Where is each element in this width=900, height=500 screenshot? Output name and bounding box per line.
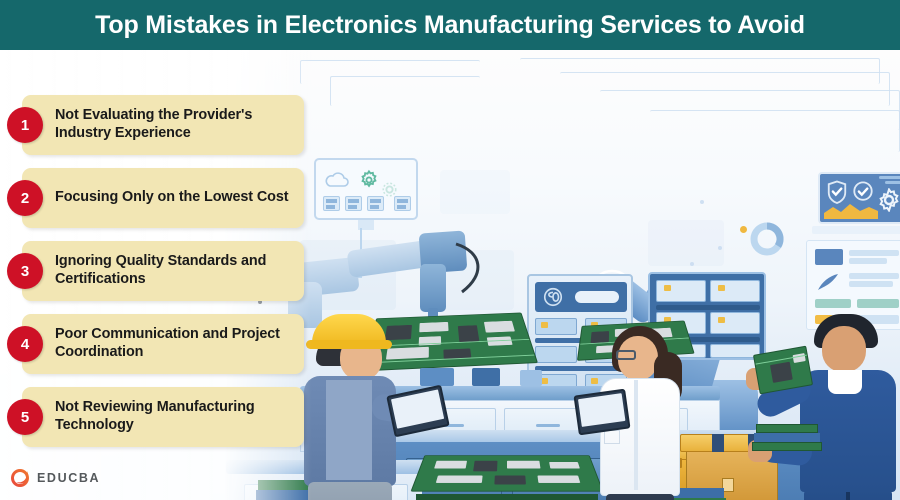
list-item[interactable]: Poor Communication and Project Coordinat… bbox=[0, 314, 320, 378]
status-light bbox=[718, 317, 725, 323]
list-item-number-badge: 2 bbox=[7, 180, 43, 216]
header-bar: Top Mistakes in Electronics Manufacturin… bbox=[0, 0, 900, 50]
decorative-dot bbox=[740, 226, 747, 233]
leg-seam bbox=[846, 492, 850, 500]
robot-arm-wrist bbox=[420, 264, 446, 312]
technician-head bbox=[822, 326, 866, 372]
list-item-label: Not Reviewing Manufacturing Technology bbox=[55, 399, 294, 434]
safety-glasses-icon bbox=[616, 350, 636, 360]
lab-coat-pocket bbox=[604, 430, 620, 444]
pcb-chip bbox=[484, 321, 515, 333]
status-light bbox=[541, 378, 548, 384]
monitor-tile bbox=[367, 196, 384, 211]
panel-chip bbox=[815, 249, 843, 265]
status-light bbox=[718, 285, 725, 291]
list-item-label: Focusing Only on the Lowest Cost bbox=[55, 189, 288, 207]
pcb-chip bbox=[494, 476, 526, 485]
infographic-page: Top Mistakes in Electronics Manufacturin… bbox=[0, 0, 900, 500]
list-item-label: Ignoring Quality Standards and Certifica… bbox=[55, 253, 294, 288]
decorative-dot bbox=[700, 200, 704, 204]
gear-icon bbox=[358, 169, 380, 191]
list-item-number-badge: 1 bbox=[7, 107, 43, 143]
engineer-tablet bbox=[573, 389, 630, 436]
panel-line bbox=[815, 299, 851, 308]
worker-legs bbox=[308, 482, 392, 500]
pcb-chip bbox=[473, 461, 497, 472]
held-pcb-stack bbox=[752, 442, 822, 451]
cabinet-indicator bbox=[575, 291, 619, 303]
educba-brand-text: EDUCBA bbox=[37, 471, 100, 485]
pcb-stack bbox=[410, 455, 603, 491]
area-chart-graphic bbox=[824, 202, 878, 219]
pcb-chip bbox=[419, 322, 448, 332]
badge-check-icon bbox=[852, 180, 874, 204]
pcb-stack-edge bbox=[416, 494, 598, 500]
technician-holding-board bbox=[800, 308, 900, 500]
dashboard-line bbox=[879, 176, 900, 179]
panel-line bbox=[849, 281, 893, 287]
panel-line bbox=[849, 258, 887, 264]
monitor-tile bbox=[394, 196, 411, 211]
cabinet-cell bbox=[710, 280, 760, 302]
pcb-chip bbox=[537, 476, 580, 483]
lab-coat-seam bbox=[634, 380, 638, 490]
rocket-icon bbox=[815, 271, 841, 293]
list-item[interactable]: Ignoring Quality Standards and Certifica… bbox=[0, 241, 320, 305]
cloud-icon bbox=[324, 172, 350, 190]
panel-line bbox=[857, 299, 899, 308]
cabinet-header bbox=[535, 282, 627, 312]
gear-icon bbox=[382, 182, 397, 197]
pcb-chip bbox=[549, 462, 580, 469]
educba-logo[interactable]: EDUCBA bbox=[10, 468, 100, 488]
carton-strap bbox=[712, 434, 724, 452]
shield-check-icon bbox=[826, 180, 848, 204]
pcb-chip bbox=[436, 476, 483, 483]
list-item-label: Not Evaluating the Provider's Industry E… bbox=[55, 107, 294, 142]
monitor-tile bbox=[323, 196, 340, 211]
pcb-chip bbox=[434, 461, 467, 469]
wall-monitor bbox=[314, 158, 418, 220]
list-item-number-badge: 5 bbox=[7, 399, 43, 435]
background-shelf bbox=[440, 170, 510, 214]
panel-line bbox=[849, 273, 899, 279]
panel-line bbox=[849, 250, 899, 256]
held-pcb-stack bbox=[756, 424, 818, 433]
technician-undershirt bbox=[828, 370, 862, 394]
drawer-handle bbox=[536, 424, 560, 427]
gear-icon bbox=[877, 188, 900, 212]
list-item-card[interactable]: Not Evaluating the Provider's Industry E… bbox=[22, 95, 304, 155]
background-shelf bbox=[648, 220, 724, 266]
held-pcb-stack bbox=[754, 433, 820, 442]
circuit-trace-icon bbox=[330, 76, 480, 106]
cabinet-cell bbox=[535, 346, 577, 363]
pcb-chip bbox=[458, 325, 480, 342]
list-item-card[interactable]: Not Reviewing Manufacturing Technology bbox=[22, 387, 304, 447]
cabinet-cell bbox=[656, 280, 706, 302]
mistakes-list: Not Evaluating the Provider's Industry E… bbox=[0, 95, 320, 460]
cabinet-rail bbox=[656, 305, 760, 310]
list-item-card[interactable]: Ignoring Quality Standards and Certifica… bbox=[22, 241, 304, 301]
status-light bbox=[541, 322, 548, 328]
pcb-chip bbox=[770, 362, 793, 383]
pcb-chip bbox=[507, 461, 540, 469]
bench-item bbox=[420, 368, 454, 386]
educba-play-circle-icon bbox=[10, 468, 30, 488]
list-item[interactable]: Focusing Only on the Lowest Cost 2 bbox=[0, 168, 320, 232]
dashboard-line bbox=[885, 181, 900, 184]
list-item-number-badge: 3 bbox=[7, 253, 43, 289]
monitor-tile bbox=[345, 196, 362, 211]
list-item-card[interactable]: Poor Communication and Project Coordinat… bbox=[22, 314, 304, 374]
circuit-trace-icon bbox=[650, 110, 900, 152]
list-item-card[interactable]: Focusing Only on the Lowest Cost bbox=[22, 168, 304, 228]
fan-icon bbox=[542, 286, 564, 308]
list-item[interactable]: Not Evaluating the Provider's Industry E… bbox=[0, 95, 320, 159]
donut-chart-decoration-icon bbox=[750, 222, 784, 256]
worker-vest bbox=[326, 380, 372, 480]
status-light bbox=[664, 285, 671, 291]
dashboard-shelf bbox=[812, 226, 900, 234]
list-item-number-badge: 4 bbox=[7, 326, 43, 362]
bench-item bbox=[520, 370, 542, 386]
list-item[interactable]: Not Reviewing Manufacturing Technology 5 bbox=[0, 387, 320, 451]
quality-dashboard-screen bbox=[818, 172, 900, 224]
robot-cable-icon bbox=[452, 240, 492, 300]
page-title: Top Mistakes in Electronics Manufacturin… bbox=[95, 11, 805, 40]
bench-item bbox=[472, 368, 500, 386]
cabinet-cell bbox=[710, 312, 760, 334]
list-item-label: Poor Communication and Project Coordinat… bbox=[55, 326, 294, 361]
engineer-legs bbox=[606, 494, 674, 500]
